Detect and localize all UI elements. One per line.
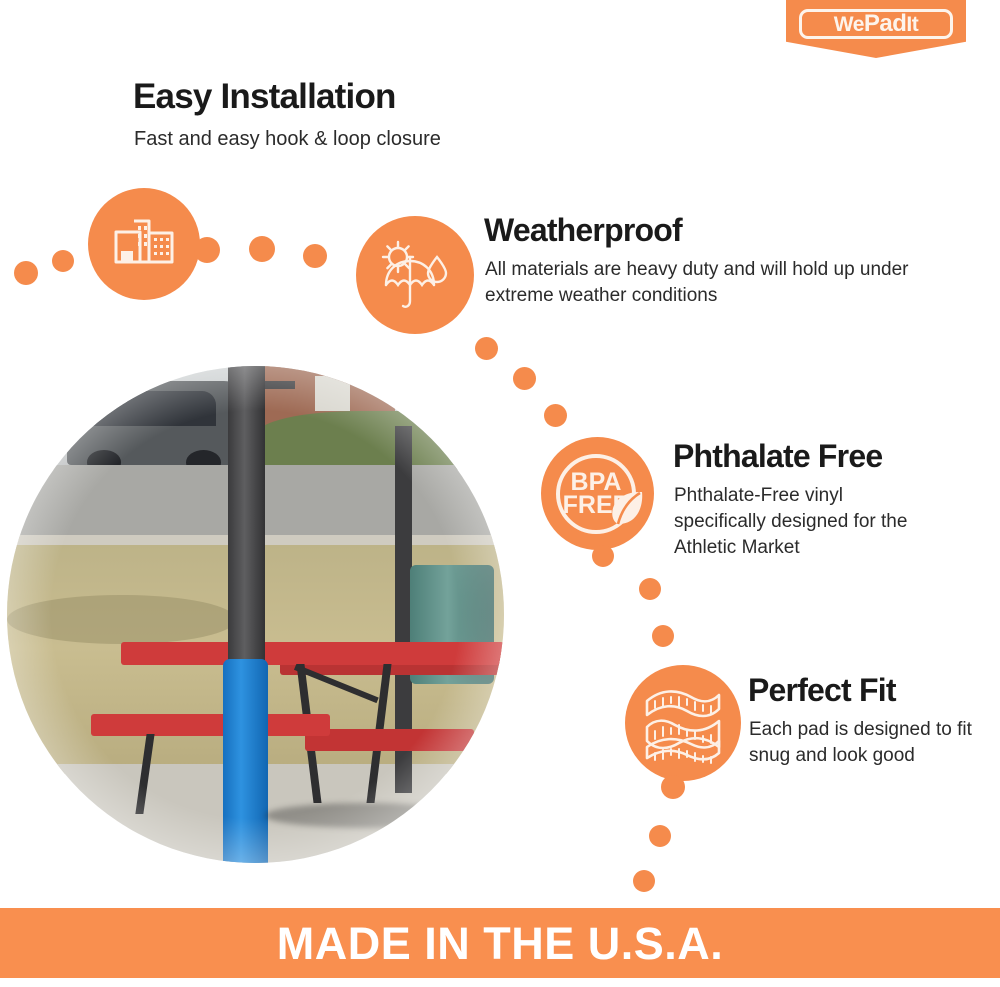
connector-dot (475, 337, 498, 360)
connector-dot (194, 237, 220, 263)
measuring-tape-icon (639, 681, 727, 765)
infographic-page: WePadIt Easy Installation Fast and easy … (0, 0, 1000, 987)
feature-description-easy-installation: Fast and easy hook & loop closure (134, 126, 554, 154)
connector-dot (52, 250, 74, 272)
wepadit-logo[interactable]: WePadIt (786, 0, 966, 58)
made-in-usa-banner: MADE IN THE U.S.A. (0, 908, 1000, 978)
bpa-free-leaf-icon: BPA FREE (546, 442, 650, 546)
connector-dot (544, 404, 567, 427)
feature-description-perfect-fit: Each pad is designed to fit snug and loo… (749, 717, 974, 769)
connector-dot (592, 545, 614, 567)
made-in-usa-text: MADE IN THE U.S.A. (277, 921, 724, 966)
connector-dot (661, 775, 685, 799)
weatherproof-icon-circle (356, 216, 474, 334)
connector-dot (652, 625, 674, 647)
logo-text-it: It (906, 13, 918, 36)
connector-dot (14, 261, 38, 285)
connector-dot (303, 244, 327, 268)
building-pad-icon (113, 217, 175, 271)
connector-dot (633, 870, 655, 892)
connector-dot (249, 236, 275, 262)
feature-description-weatherproof: All materials are heavy duty and will ho… (485, 257, 915, 309)
product-photo (7, 366, 504, 863)
feature-title-weatherproof: Weatherproof (484, 214, 682, 248)
logo-outline: WePadIt (799, 9, 953, 39)
easy-installation-icon-circle (88, 188, 200, 300)
logo-text: WePadIt (834, 12, 918, 36)
logo-text-we: We (834, 13, 864, 36)
feature-title-phthalate-free: Phthalate Free (673, 440, 882, 474)
umbrella-sun-raindrop-icon (377, 239, 453, 311)
feature-title-perfect-fit: Perfect Fit (748, 674, 896, 708)
feature-description-phthalate-free: Phthalate-Free vinyl specifically design… (674, 483, 939, 562)
perfect-fit-icon-circle (625, 665, 741, 781)
connector-dot (513, 367, 536, 390)
feature-title-easy-installation: Easy Installation (133, 79, 396, 116)
phthalate-free-icon-circle: BPA FREE (541, 437, 654, 550)
logo-text-pad: Pad (864, 10, 907, 37)
connector-dot (639, 578, 661, 600)
connector-dot (649, 825, 671, 847)
